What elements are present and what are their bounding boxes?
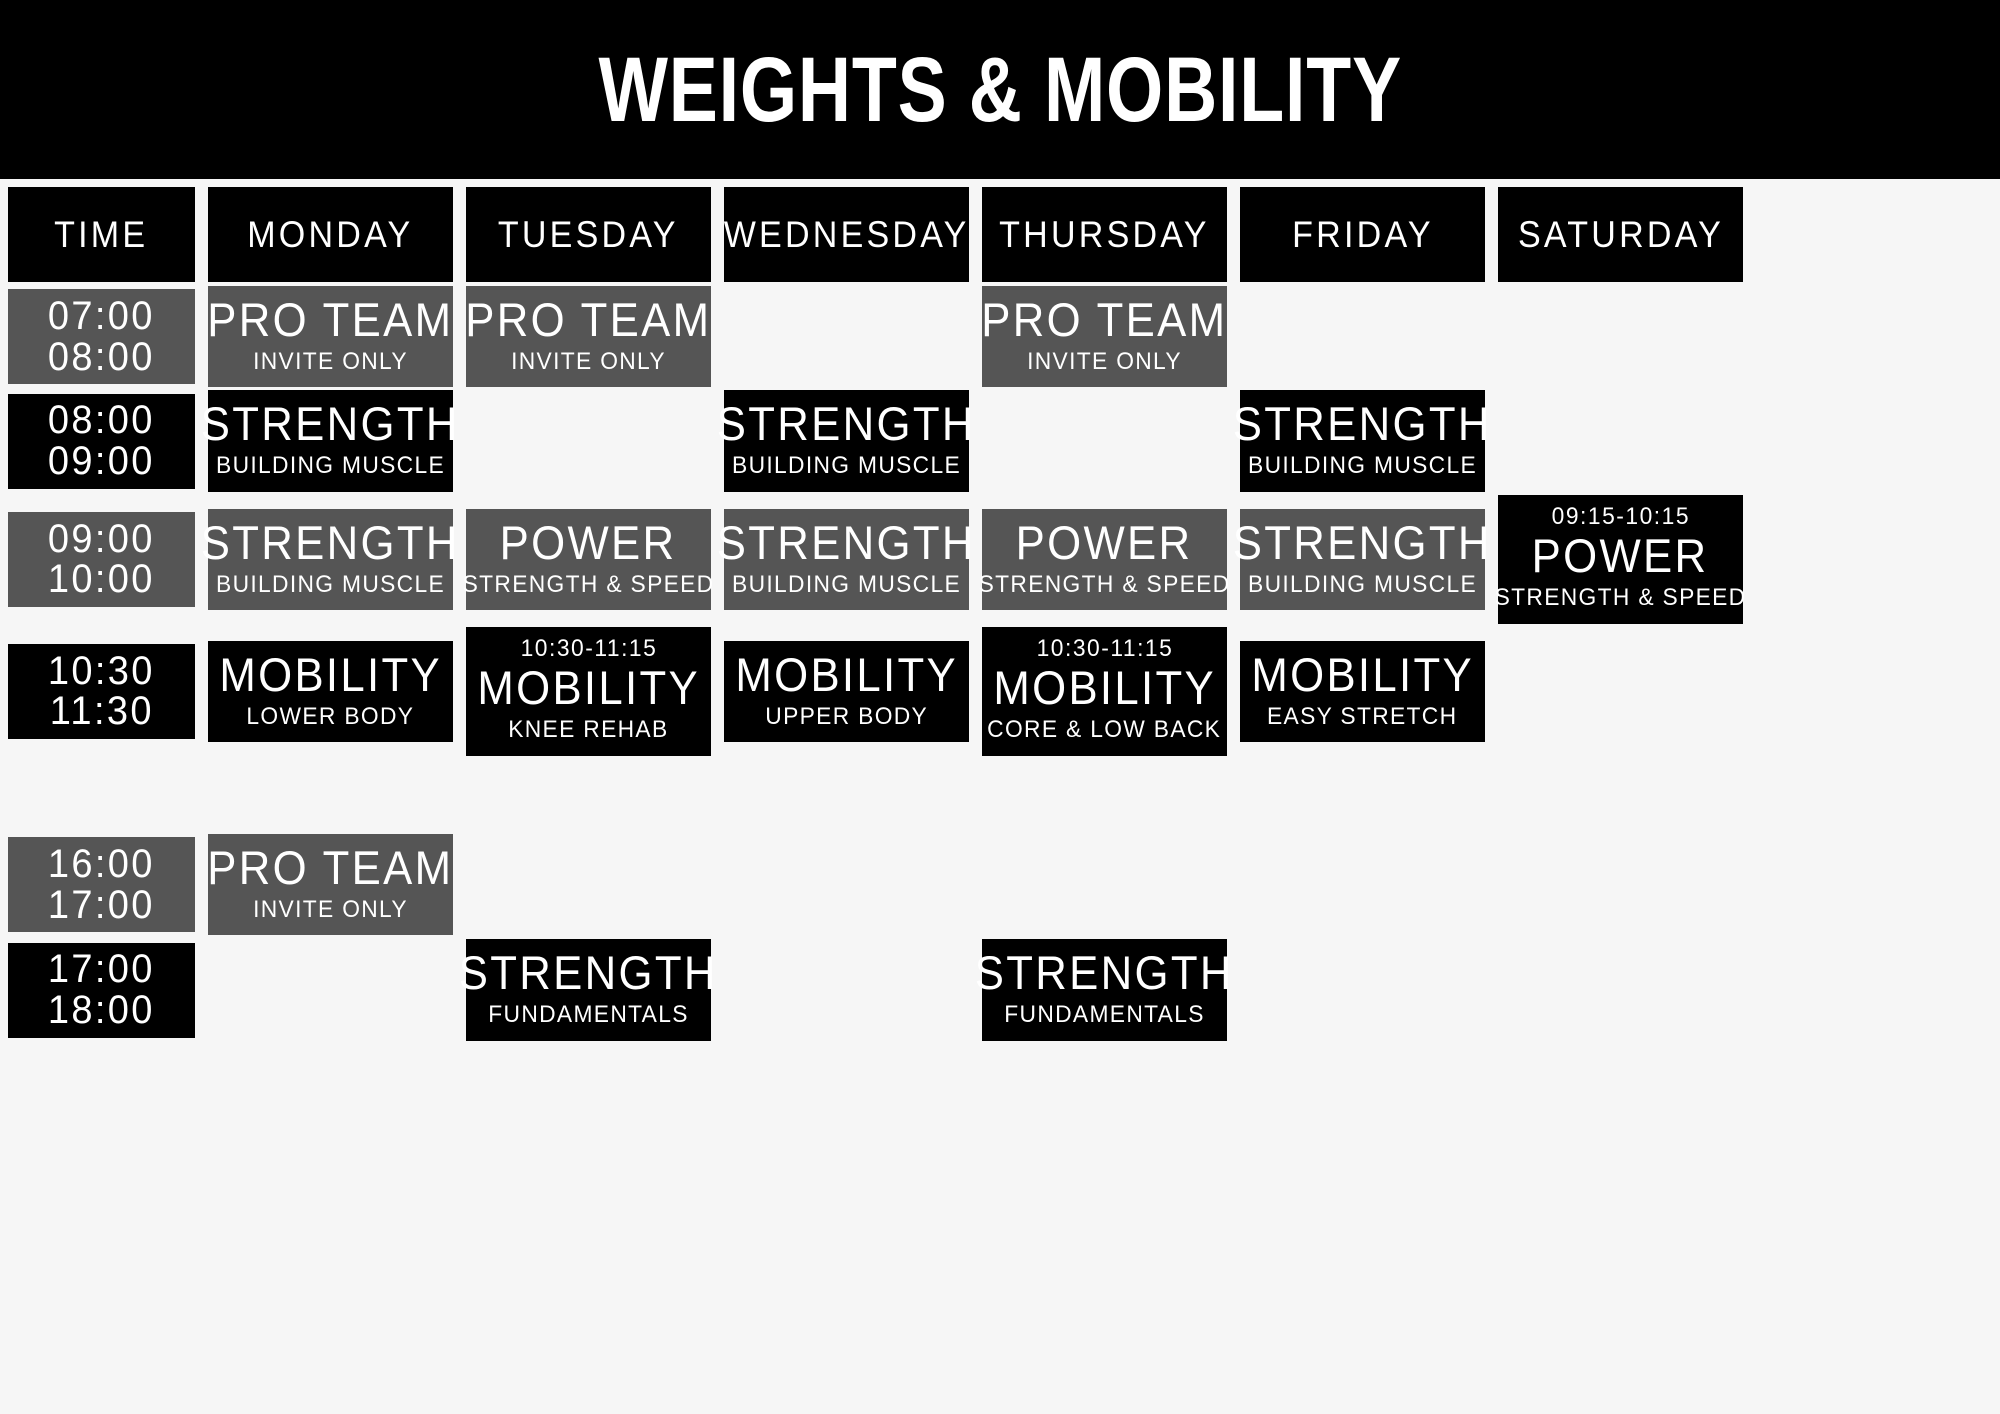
day-col-monday: STRENGTHBUILDING MUSCLE: [208, 390, 453, 491]
day-col-monday: MOBILITYLOWER BODY: [208, 641, 453, 742]
day-col-monday: PRO TEAMINVITE ONLY: [208, 286, 453, 387]
day-col-monday: STRENGTHBUILDING MUSCLE: [208, 509, 453, 610]
time-slot-cell: 08:0009:00: [8, 394, 195, 489]
class-subtitle: BUILDING MUSCLE: [732, 454, 961, 478]
column-header-label: THURSDAY: [999, 216, 1209, 254]
class-name: PRO TEAM: [207, 296, 453, 343]
schedule-row: 09:0010:00STRENGTHBUILDING MUSCLEPOWERST…: [8, 495, 1733, 624]
class-time-range: 10:30-11:15: [520, 637, 657, 661]
class-subtitle: FUNDAMENTALS: [1004, 1003, 1204, 1027]
day-col-thursday: 10:30-11:15MOBILITYCORE & LOW BACK: [982, 627, 1227, 756]
class-name: PRO TEAM: [981, 296, 1227, 343]
class-card[interactable]: STRENGTHBUILDING MUSCLE: [208, 509, 453, 610]
class-name: STRENGTH: [201, 400, 460, 447]
class-name: STRENGTH: [459, 949, 718, 996]
time-col: 09:0010:00: [8, 512, 195, 607]
class-card[interactable]: POWERSTRENGTH & SPEED: [982, 509, 1227, 610]
title-banner: WEIGHTS & MOBILITY: [0, 0, 2000, 179]
column-header-thursday: THURSDAY: [982, 187, 1227, 282]
class-name: STRENGTH: [201, 519, 460, 566]
time-start: 17:00: [48, 949, 155, 990]
day-col-tuesday: PRO TEAMINVITE ONLY: [466, 286, 711, 387]
class-card[interactable]: PRO TEAMINVITE ONLY: [982, 286, 1227, 387]
class-card[interactable]: STRENGTHFUNDAMENTALS: [466, 939, 711, 1040]
class-subtitle: STRENGTH & SPEED: [979, 573, 1231, 597]
day-col-friday: MOBILITYEASY STRETCH: [1240, 641, 1485, 742]
time-end: 17:00: [48, 885, 155, 926]
column-header-time: TIME: [8, 187, 195, 282]
class-subtitle: CORE & LOW BACK: [987, 718, 1221, 742]
header-col-time: TIME: [8, 187, 195, 282]
schedule-row: 08:0009:00STRENGTHBUILDING MUSCLESTRENGT…: [8, 390, 1733, 491]
class-name: MOBILITY: [477, 664, 700, 711]
time-col: 08:0009:00: [8, 394, 195, 489]
day-col-tuesday: POWERSTRENGTH & SPEED: [466, 509, 711, 610]
day-col-friday: STRENGTHBUILDING MUSCLE: [1240, 390, 1485, 491]
class-card[interactable]: POWERSTRENGTH & SPEED: [466, 509, 711, 610]
column-header-tuesday: TUESDAY: [466, 187, 711, 282]
day-col-wednesday: STRENGTHBUILDING MUSCLE: [724, 390, 969, 491]
class-card[interactable]: STRENGTHBUILDING MUSCLE: [1240, 509, 1485, 610]
column-header-label: MONDAY: [247, 216, 413, 254]
class-name: MOBILITY: [993, 664, 1216, 711]
time-slot-cell: 10:3011:30: [8, 644, 195, 739]
header-col-monday: MONDAY: [208, 187, 453, 282]
class-card[interactable]: PRO TEAMINVITE ONLY: [208, 834, 453, 935]
time-end: 10:00: [48, 559, 155, 600]
class-card[interactable]: STRENGTHFUNDAMENTALS: [982, 939, 1227, 1040]
class-card[interactable]: STRENGTHBUILDING MUSCLE: [724, 390, 969, 491]
time-col: 10:3011:30: [8, 644, 195, 739]
day-col-wednesday: STRENGTHBUILDING MUSCLE: [724, 509, 969, 610]
class-name: STRENGTH: [717, 400, 976, 447]
day-col-monday: PRO TEAMINVITE ONLY: [208, 834, 453, 935]
column-header-label: WEDNESDAY: [724, 216, 970, 254]
day-col-thursday: PRO TEAMINVITE ONLY: [982, 286, 1227, 387]
time-end: 08:00: [48, 337, 155, 378]
day-col-saturday: 09:15-10:15POWERSTRENGTH & SPEED: [1498, 495, 1743, 624]
class-name: STRENGTH: [1233, 519, 1492, 566]
schedule-rows: 07:0008:00PRO TEAMINVITE ONLYPRO TEAMINV…: [8, 286, 2000, 1041]
class-subtitle: UPPER BODY: [765, 705, 928, 729]
class-subtitle: STRENGTH & SPEED: [463, 573, 715, 597]
class-subtitle: KNEE REHAB: [508, 718, 668, 742]
class-card[interactable]: MOBILITYLOWER BODY: [208, 641, 453, 742]
header-col-thursday: THURSDAY: [982, 187, 1227, 282]
class-card[interactable]: 10:30-11:15MOBILITYKNEE REHAB: [466, 627, 711, 756]
day-col-tuesday: 10:30-11:15MOBILITYKNEE REHAB: [466, 627, 711, 756]
schedule-row: 17:0018:00STRENGTHFUNDAMENTALSSTRENGTHFU…: [8, 939, 1733, 1040]
class-subtitle: INVITE ONLY: [511, 350, 666, 374]
class-card[interactable]: 09:15-10:15POWERSTRENGTH & SPEED: [1498, 495, 1743, 624]
class-card[interactable]: STRENGTHBUILDING MUSCLE: [724, 509, 969, 610]
day-col-friday: STRENGTHBUILDING MUSCLE: [1240, 509, 1485, 610]
class-name: MOBILITY: [219, 651, 442, 698]
column-header-wednesday: WEDNESDAY: [724, 187, 969, 282]
time-slot-cell: 07:0008:00: [8, 289, 195, 384]
class-name: POWER: [1016, 519, 1193, 566]
time-slot-cell: 09:0010:00: [8, 512, 195, 607]
column-header-monday: MONDAY: [208, 187, 453, 282]
class-name: POWER: [500, 519, 677, 566]
time-start: 16:00: [48, 844, 155, 885]
class-time-range: 09:15-10:15: [1551, 505, 1689, 529]
schedule-row: 07:0008:00PRO TEAMINVITE ONLYPRO TEAMINV…: [8, 286, 1733, 387]
schedule-row: 16:0017:00PRO TEAMINVITE ONLY: [8, 834, 1733, 935]
column-header-label: TIME: [54, 216, 148, 254]
day-col-wednesday: MOBILITYUPPER BODY: [724, 641, 969, 742]
class-card[interactable]: PRO TEAMINVITE ONLY: [208, 286, 453, 387]
header-col-friday: FRIDAY: [1240, 187, 1485, 282]
schedule-grid: TIME MONDAY TUESDAY WEDNESDAY THURSDAY F: [0, 179, 2000, 1414]
class-card[interactable]: STRENGTHBUILDING MUSCLE: [1240, 390, 1485, 491]
header-col-saturday: SATURDAY: [1498, 187, 1743, 282]
time-start: 08:00: [48, 400, 155, 441]
class-subtitle: BUILDING MUSCLE: [732, 573, 961, 597]
time-col: 07:0008:00: [8, 289, 195, 384]
class-name: POWER: [1532, 532, 1709, 579]
class-subtitle: BUILDING MUSCLE: [216, 454, 445, 478]
class-subtitle: STRENGTH & SPEED: [1495, 586, 1747, 610]
class-subtitle: INVITE ONLY: [253, 350, 408, 374]
class-name: STRENGTH: [717, 519, 976, 566]
class-card[interactable]: MOBILITYUPPER BODY: [724, 641, 969, 742]
schedule-row-spacer: [8, 756, 2000, 834]
class-subtitle: BUILDING MUSCLE: [1248, 454, 1477, 478]
class-subtitle: FUNDAMENTALS: [488, 1003, 688, 1027]
class-subtitle: LOWER BODY: [247, 705, 415, 729]
class-time-range: 10:30-11:15: [1036, 637, 1173, 661]
class-name: PRO TEAM: [465, 296, 711, 343]
header-col-wednesday: WEDNESDAY: [724, 187, 969, 282]
class-card[interactable]: PRO TEAMINVITE ONLY: [466, 286, 711, 387]
class-subtitle: BUILDING MUSCLE: [216, 573, 445, 597]
column-header-label: SATURDAY: [1517, 216, 1723, 254]
time-end: 11:30: [49, 691, 153, 732]
time-start: 10:30: [48, 651, 155, 692]
day-col-thursday: STRENGTHFUNDAMENTALS: [982, 939, 1227, 1040]
column-header-label: TUESDAY: [498, 216, 679, 254]
column-header-friday: FRIDAY: [1240, 187, 1485, 282]
page-title: WEIGHTS & MOBILITY: [598, 44, 1402, 136]
time-start: 07:00: [48, 296, 155, 337]
class-name: PRO TEAM: [207, 844, 453, 891]
class-name: STRENGTH: [975, 949, 1234, 996]
column-header-label: FRIDAY: [1292, 216, 1434, 254]
time-end: 09:00: [48, 441, 155, 482]
time-start: 09:00: [48, 519, 155, 560]
time-slot-cell: 16:0017:00: [8, 837, 195, 932]
class-name: MOBILITY: [1251, 651, 1474, 698]
time-col: 16:0017:00: [8, 837, 195, 932]
time-end: 18:00: [48, 990, 155, 1031]
class-card[interactable]: 10:30-11:15MOBILITYCORE & LOW BACK: [982, 627, 1227, 756]
day-col-thursday: POWERSTRENGTH & SPEED: [982, 509, 1227, 610]
class-card[interactable]: MOBILITYEASY STRETCH: [1240, 641, 1485, 742]
schedule-row: 10:3011:30MOBILITYLOWER BODY10:30-11:15M…: [8, 627, 1733, 756]
class-name: STRENGTH: [1233, 400, 1492, 447]
class-subtitle: INVITE ONLY: [253, 898, 408, 922]
class-card[interactable]: STRENGTHBUILDING MUSCLE: [208, 390, 453, 491]
column-header-saturday: SATURDAY: [1498, 187, 1743, 282]
day-col-tuesday: STRENGTHFUNDAMENTALS: [466, 939, 711, 1040]
header-col-tuesday: TUESDAY: [466, 187, 711, 282]
class-subtitle: BUILDING MUSCLE: [1248, 573, 1477, 597]
grid-header-row: TIME MONDAY TUESDAY WEDNESDAY THURSDAY F: [8, 187, 1733, 282]
class-subtitle: INVITE ONLY: [1027, 350, 1182, 374]
time-col: 17:0018:00: [8, 943, 195, 1038]
class-subtitle: EASY STRETCH: [1267, 705, 1457, 729]
class-name: MOBILITY: [735, 651, 958, 698]
time-slot-cell: 17:0018:00: [8, 943, 195, 1038]
